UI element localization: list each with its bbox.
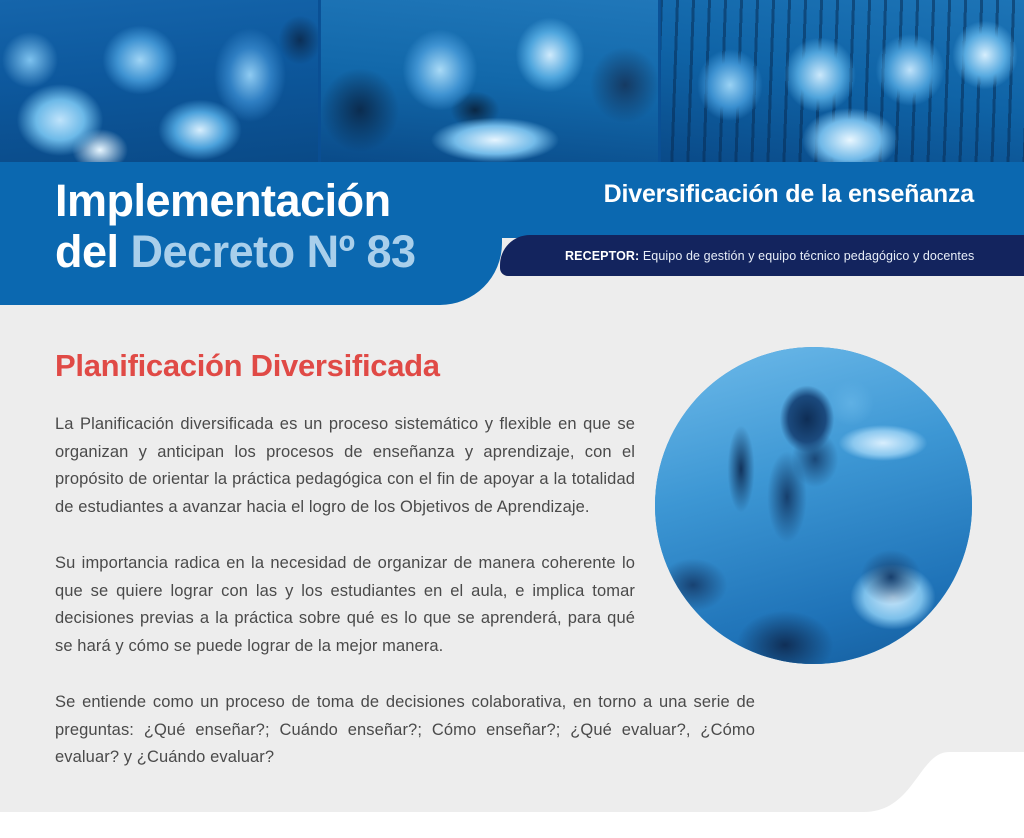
page-title-line-2-accent: Decreto Nº 83 bbox=[131, 226, 416, 277]
paragraph-1: La Planificación diversificada es un pro… bbox=[55, 411, 635, 521]
receptor-value: Equipo de gestión y equipo técnico pedag… bbox=[639, 249, 974, 263]
banner-divider-1 bbox=[318, 0, 321, 162]
page-subtitle: Diversificación de la enseñanza bbox=[604, 180, 974, 209]
receptor-text: RECEPTOR: Equipo de gestión y equipo téc… bbox=[565, 249, 974, 263]
main-content: Planificación Diversificada La Planifica… bbox=[55, 348, 635, 772]
page-title: Implementación del Decreto Nº 83 bbox=[55, 175, 515, 277]
page-title-line-1: Implementación bbox=[55, 175, 515, 226]
bottom-white-strip bbox=[0, 812, 1024, 838]
teacher-classroom-photo bbox=[655, 347, 972, 664]
page-title-line-2: del Decreto Nº 83 bbox=[55, 226, 515, 277]
page-title-line-2-plain: del bbox=[55, 226, 131, 277]
teacher-classroom-image bbox=[655, 347, 972, 664]
section-title: Planificación Diversificada bbox=[55, 348, 635, 384]
receptor-bar: RECEPTOR: Equipo de gestión y equipo téc… bbox=[500, 235, 1024, 276]
classroom-students-desks-image bbox=[0, 0, 320, 162]
bottom-swoosh-decoration bbox=[824, 720, 1024, 812]
paragraph-3: Se entiende como un proceso de toma de d… bbox=[55, 689, 755, 772]
paragraph-2: Su importancia radica en la necesidad de… bbox=[55, 550, 635, 660]
infographic-page: Implementación del Decreto Nº 83 Diversi… bbox=[0, 0, 1024, 838]
banner-photo-strip bbox=[0, 0, 1024, 162]
smiling-students-group-image bbox=[660, 0, 1024, 162]
banner-divider-2 bbox=[658, 0, 661, 162]
receptor-label: RECEPTOR: bbox=[565, 249, 639, 263]
banner-photo-smiling-students-group bbox=[660, 0, 1024, 162]
banner-photo-classroom-students-desks bbox=[0, 0, 320, 162]
teachers-meeting-table-image bbox=[320, 0, 660, 162]
banner-photo-teachers-meeting-table bbox=[320, 0, 660, 162]
